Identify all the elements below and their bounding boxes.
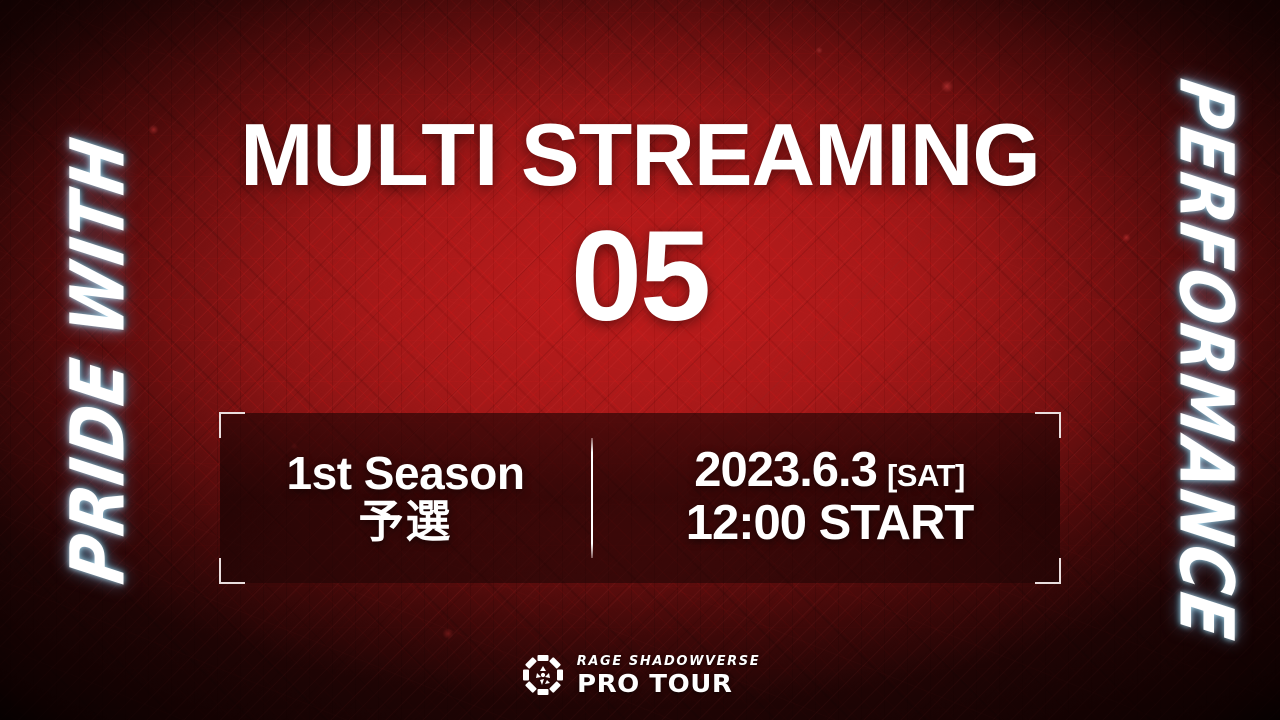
event-start-time: 12:00 START — [686, 496, 974, 551]
logo-wordmark: RAGE SHADOWVERSE PRO TOUR — [577, 655, 760, 696]
page-title: MULTI STREAMING — [0, 112, 1280, 198]
event-weekday: [SAT] — [887, 460, 965, 492]
season-column: 1st Season 予選 — [220, 449, 591, 548]
title-block: MULTI STREAMING 05 — [0, 112, 1280, 336]
season-stage-label: 予選 — [358, 497, 452, 547]
brand-logo: RAGE SHADOWVERSE PRO TOUR — [0, 652, 1280, 698]
date-row: 2023.6.3 [SAT] — [694, 445, 965, 496]
schedule-column: 2023.6.3 [SAT] 12:00 START — [593, 445, 1060, 551]
corner-bracket-top-left — [219, 412, 245, 438]
corner-bracket-bottom-right — [1035, 558, 1061, 584]
corner-bracket-top-right — [1035, 412, 1061, 438]
event-date: 2023.6.3 — [694, 445, 877, 496]
corner-bracket-bottom-left — [219, 558, 245, 584]
logo-top-line: RAGE SHADOWVERSE — [577, 655, 760, 668]
event-info-panel: 1st Season 予選 2023.6.3 [SAT] 12:00 START — [220, 413, 1060, 583]
octagon-emblem-icon — [520, 652, 566, 698]
logo-bottom-line: PRO TOUR — [577, 671, 732, 696]
season-label: 1st Season — [287, 449, 525, 497]
episode-number: 05 — [0, 218, 1280, 336]
stream-title-card: PRIDE WITH PERFORMANCE MULTI STREAMING 0… — [0, 0, 1280, 720]
